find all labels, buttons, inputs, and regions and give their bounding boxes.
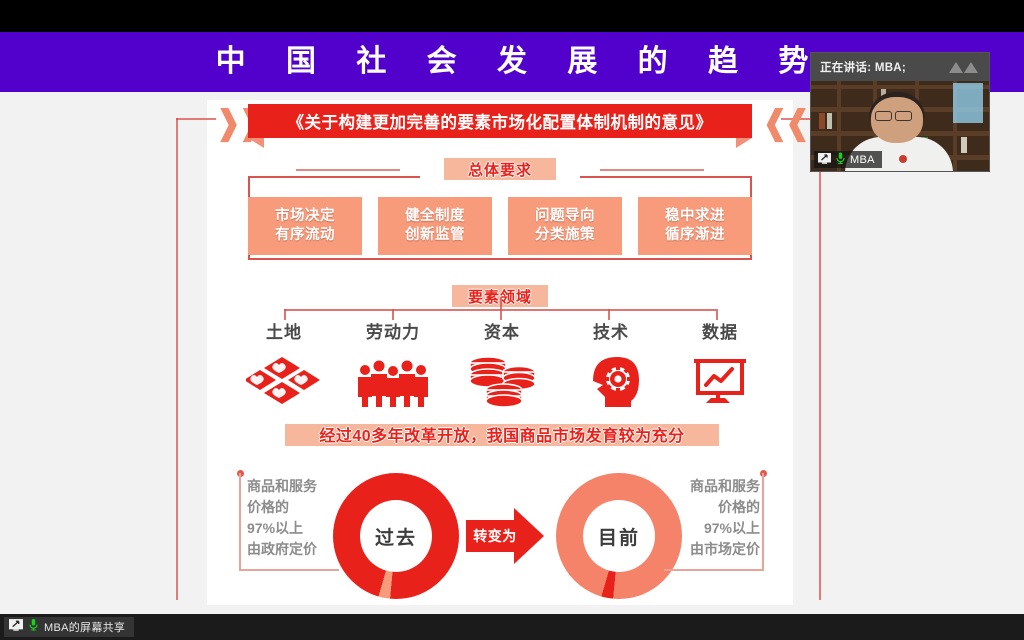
video-participant-tag: MBA	[814, 151, 882, 168]
element-label-technology: 技术	[593, 318, 629, 343]
comparison-note-right-line-3: 由市场定价	[654, 539, 760, 560]
element-item-land: 土地	[232, 318, 336, 410]
callout-line-left-v	[239, 473, 241, 571]
comparison-note-right-line-0: 商品和服务	[654, 476, 760, 497]
requirement-row: 市场决定 有序流动 健全制度 创新监管 问题导向 分类施策 稳中求进 循序渐进	[248, 196, 752, 256]
callout-line-right-v	[762, 473, 764, 571]
video-participant-name: MBA	[850, 154, 875, 166]
element-label-data: 数据	[702, 318, 738, 343]
coins-stack-icon	[464, 349, 540, 407]
comparison-note-right-line-1: 价格的	[654, 497, 760, 518]
requirement-cell-0: 市场决定 有序流动	[248, 197, 362, 255]
requirement-cell-3-line2: 循序渐进	[665, 226, 725, 245]
active-speaker-label: 正在讲话: MBA;	[820, 59, 906, 75]
chart-board-icon	[682, 349, 758, 407]
microphone-icon	[29, 618, 38, 636]
frame-line-left-top	[176, 118, 216, 120]
comparison-note-left-line-0: 商品和服务	[247, 476, 353, 497]
screen-share-icon	[818, 151, 831, 169]
taskbar-screen-share-item[interactable]: MBA的屏幕共享	[4, 617, 134, 637]
page-title: 中 国 社 会 发 展 的 趋 势	[200, 47, 825, 77]
top-black-bar	[0, 0, 1024, 32]
screen-root: 中 国 社 会 发 展 的 趋 势 ❱❱ ❰❰ 《关于构建更加完善的要素市场化配…	[0, 0, 1024, 640]
microphone-icon	[836, 151, 845, 169]
requirement-cell-2-line1: 问题导向	[535, 207, 595, 226]
ribbon-tail-left	[248, 138, 264, 148]
banner-ribbon: 《关于构建更加完善的要素市场化配置体制机制的意见》	[248, 104, 752, 138]
requirement-cell-0-line2: 有序流动	[275, 226, 335, 245]
element-item-technology: 技术	[559, 318, 663, 410]
taskbar: MBA的屏幕共享	[0, 614, 1024, 640]
donut-center-label-present: 目前	[583, 500, 655, 572]
element-label-labor: 劳动力	[366, 318, 420, 343]
requirement-cell-1-line1: 健全制度	[405, 207, 465, 226]
requirement-cell-2-line2: 分类施策	[535, 226, 595, 245]
taskbar-item-label: MBA的屏幕共享	[44, 619, 125, 635]
callout-line-right-h	[664, 569, 764, 571]
mountain-icon	[947, 59, 981, 79]
banner-title: 《关于构建更加完善的要素市场化配置体制机制的意见》	[288, 109, 713, 133]
requirement-cell-3: 稳中求进 循序渐进	[638, 197, 752, 255]
element-label-land: 土地	[266, 318, 302, 343]
transform-arrow: 转变为	[466, 508, 544, 564]
comparison-note-right-line-2: 97%以上	[654, 518, 760, 539]
video-feed: MBA	[811, 81, 989, 171]
donut-chart-past: 过去	[333, 473, 459, 599]
element-item-data: 数据	[668, 318, 772, 410]
video-header: 正在讲话: MBA;	[811, 53, 989, 81]
connector-stub-2	[500, 297, 502, 320]
element-item-capital: 资本	[450, 318, 554, 410]
ribbon-tail-right	[736, 138, 752, 148]
screen-share-icon	[9, 618, 23, 636]
section-line-right-overall	[600, 169, 704, 171]
mid-band-text: 经过40多年改革开放，我国商品市场发育较为充分	[285, 419, 719, 449]
elements-icon-row: 土地	[232, 318, 772, 410]
document-banner: 《关于构建更加完善的要素市场化配置体制机制的意见》	[248, 104, 752, 138]
element-item-labor: 劳动力	[341, 318, 445, 410]
callout-line-left-h	[239, 569, 339, 571]
requirement-cell-2: 问题导向 分类施策	[508, 197, 622, 255]
chevron-left-icon: ❰❰	[761, 106, 806, 140]
people-group-icon	[355, 349, 431, 407]
head-gear-icon	[573, 349, 649, 407]
donut-center-label-past: 过去	[360, 500, 432, 572]
video-thumbnail-panel[interactable]: 正在讲话: MBA;	[810, 52, 990, 172]
requirement-cell-1-line2: 创新监管	[405, 226, 465, 245]
element-label-capital: 资本	[484, 318, 520, 343]
requirement-cell-3-line1: 稳中求进	[665, 207, 725, 226]
frame-line-left	[176, 118, 178, 600]
requirement-cell-1: 健全制度 创新监管	[378, 197, 492, 255]
comparison-note-right: 商品和服务 价格的 97%以上 由市场定价	[654, 476, 760, 560]
frame-line-right	[819, 118, 821, 600]
land-field-icon	[246, 349, 322, 407]
transform-arrow-label: 转变为	[466, 520, 524, 552]
requirement-cell-0-line1: 市场决定	[275, 207, 335, 226]
section-line-left-overall	[296, 169, 400, 171]
